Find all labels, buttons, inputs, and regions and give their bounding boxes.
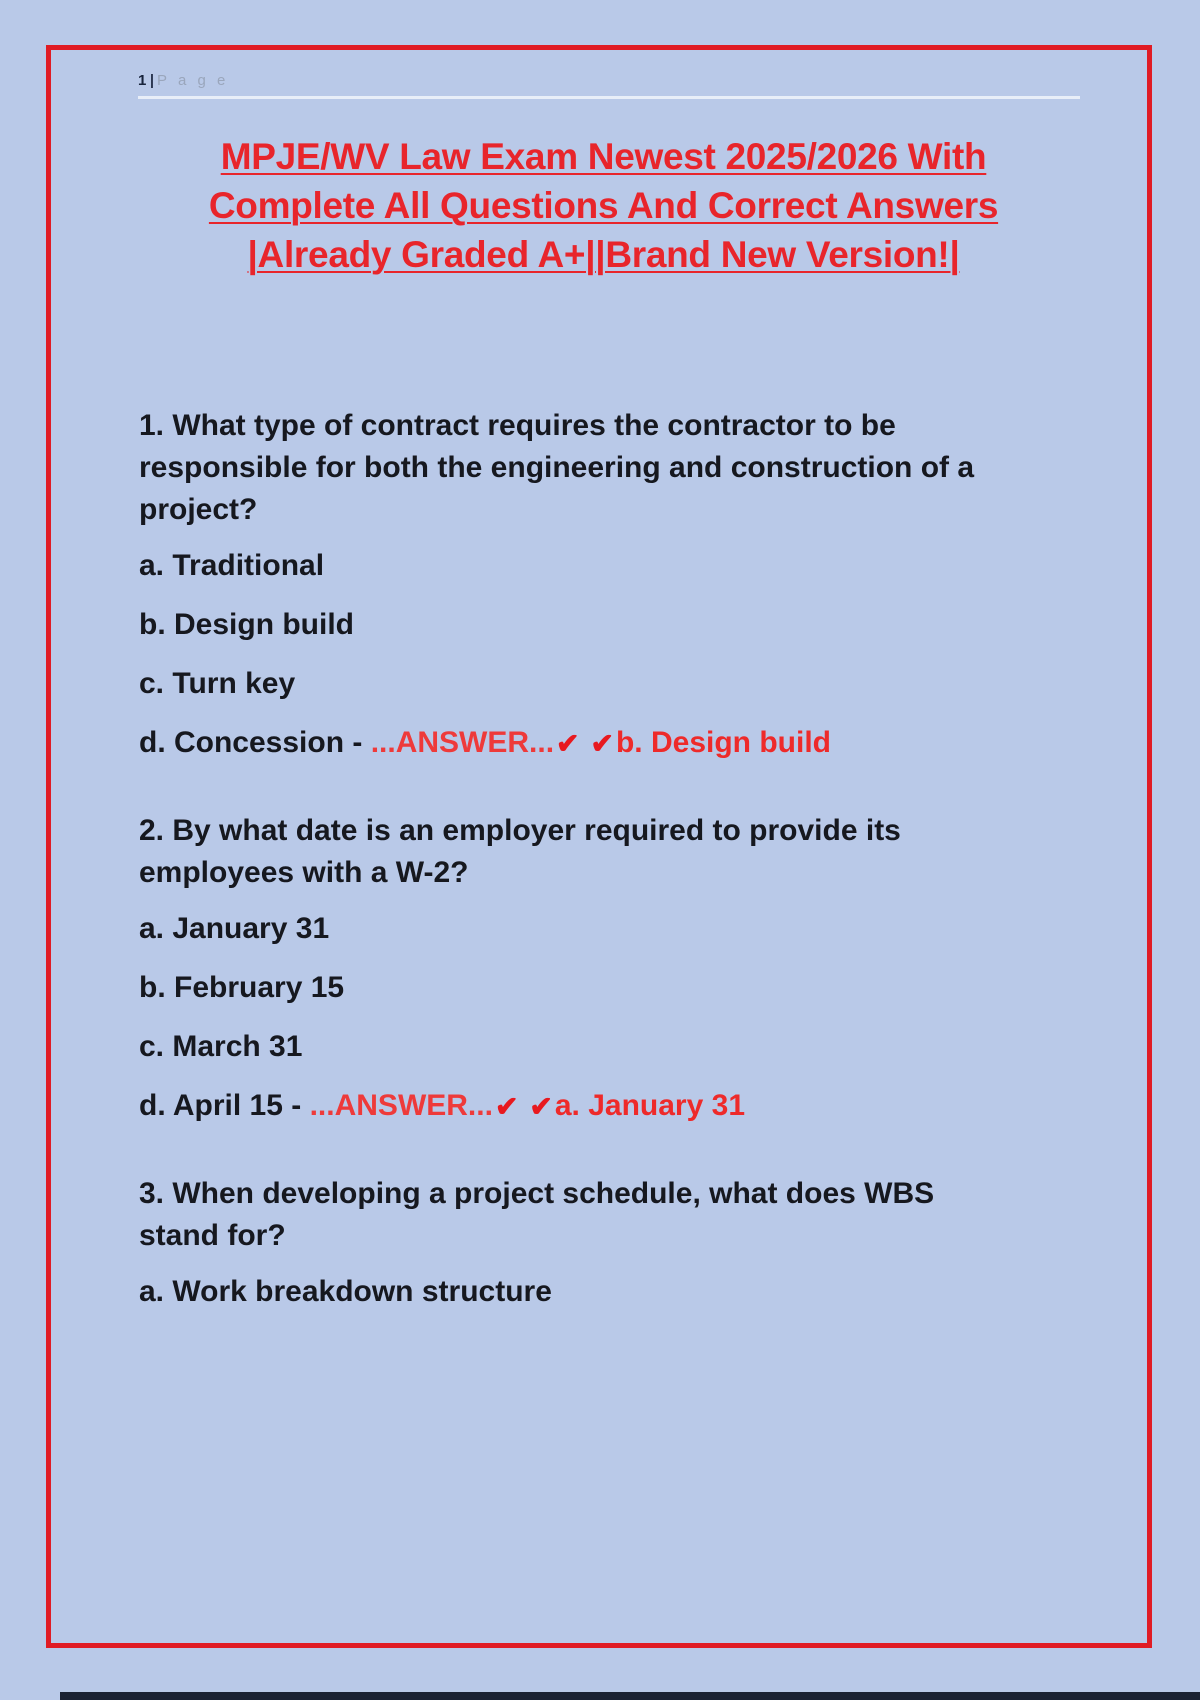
- question-stem: 3. When developing a project schedule, w…: [139, 1173, 1019, 1257]
- answer-marker: ...ANSWER...: [371, 726, 554, 759]
- header-rule: [138, 96, 1080, 99]
- answer-marker: ...ANSWER...: [310, 1089, 493, 1122]
- title-line-1: MPJE/WV Law Exam Newest 2025/2026 With: [111, 132, 1096, 181]
- question-stem: 2. By what date is an employer required …: [139, 810, 1019, 894]
- header-separator: |: [147, 72, 157, 89]
- running-header: 1|P a g e: [138, 72, 1080, 99]
- question-option: a. Traditional: [139, 545, 1089, 587]
- page-title: MPJE/WV Law Exam Newest 2025/2026 With C…: [111, 132, 1096, 279]
- page-content-area: 1|P a g e MPJE/WV Law Exam Newest 2025/2…: [51, 50, 1147, 1643]
- page-number-line: 1|P a g e: [138, 72, 1080, 90]
- question-block: 1. What type of contract requires the co…: [139, 405, 1089, 764]
- next-page-top-edge: [60, 1692, 1200, 1700]
- question-answer-line: d. Concession - ...ANSWER...✔✔b. Design …: [139, 722, 1089, 764]
- check-mark-icon: ✔: [493, 1093, 520, 1121]
- question-answer-line: d. April 15 - ...ANSWER...✔✔a. January 3…: [139, 1085, 1089, 1127]
- option-label: d. Concession -: [139, 726, 371, 759]
- check-mark-icon: ✔: [527, 1093, 554, 1121]
- document-page: 1|P a g e MPJE/WV Law Exam Newest 2025/2…: [0, 0, 1200, 1692]
- option-label: d. April 15 -: [139, 1089, 310, 1122]
- question-option: c. March 31: [139, 1026, 1089, 1068]
- question-option: b. Design build: [139, 604, 1089, 646]
- question-block: 3. When developing a project schedule, w…: [139, 1173, 1089, 1313]
- question-option: c. Turn key: [139, 663, 1089, 705]
- question-option: b. February 15: [139, 967, 1089, 1009]
- title-line-3: |Already Graded A+||Brand New Version!|: [111, 230, 1096, 279]
- question-option: a. January 31: [139, 908, 1089, 950]
- questions-container: 1. What type of contract requires the co…: [139, 405, 1089, 1313]
- check-mark-icon: ✔: [589, 730, 616, 758]
- question-block: 2. By what date is an employer required …: [139, 810, 1089, 1127]
- answer-text: b. Design build: [616, 726, 831, 759]
- header-page-word: P a g e: [157, 72, 229, 89]
- answer-text: a. January 31: [555, 1089, 745, 1122]
- question-stem: 1. What type of contract requires the co…: [139, 405, 1019, 531]
- question-option: a. Work breakdown structure: [139, 1271, 1089, 1313]
- page-red-border: 1|P a g e MPJE/WV Law Exam Newest 2025/2…: [46, 45, 1152, 1648]
- check-mark-icon: ✔: [554, 730, 581, 758]
- title-line-2: Complete All Questions And Correct Answe…: [111, 181, 1096, 230]
- header-page-number: 1: [138, 72, 147, 89]
